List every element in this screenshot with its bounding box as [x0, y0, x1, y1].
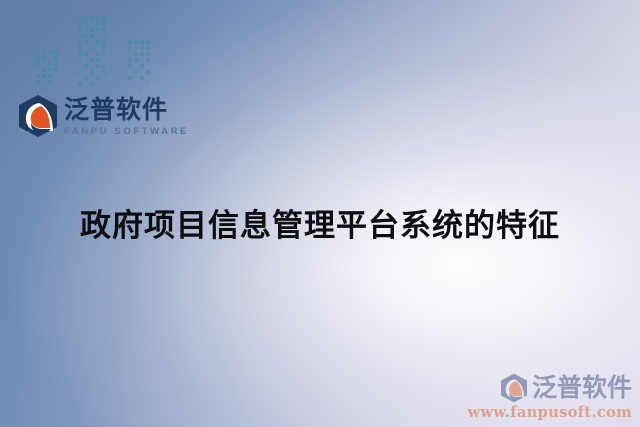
brand-logo: 泛普软件 FANPU SOFTWARE: [17, 94, 189, 138]
watermark-logo-row: 泛普软件: [466, 373, 632, 403]
brand-logo-text: 泛普软件 FANPU SOFTWARE: [64, 96, 189, 137]
fanpu-logo-mark-icon: [17, 94, 59, 138]
brand-name-en: FANPU SOFTWARE: [64, 126, 189, 137]
watermark-url: www.fanpusoft.com: [466, 404, 632, 421]
pixel-city-skyline-icon: [36, 6, 170, 98]
presentation-slide: 泛普软件 FANPU SOFTWARE 政府项目信息管理平台系统的特征 泛普软件…: [0, 0, 640, 427]
fanpu-watermark-mark-icon: [499, 373, 529, 403]
site-watermark: 泛普软件 www.fanpusoft.com: [466, 373, 632, 421]
slide-title: 政府项目信息管理平台系统的特征: [0, 205, 640, 247]
watermark-brand-name: 泛普软件: [532, 374, 632, 402]
brand-name-cn: 泛普软件: [64, 96, 189, 123]
